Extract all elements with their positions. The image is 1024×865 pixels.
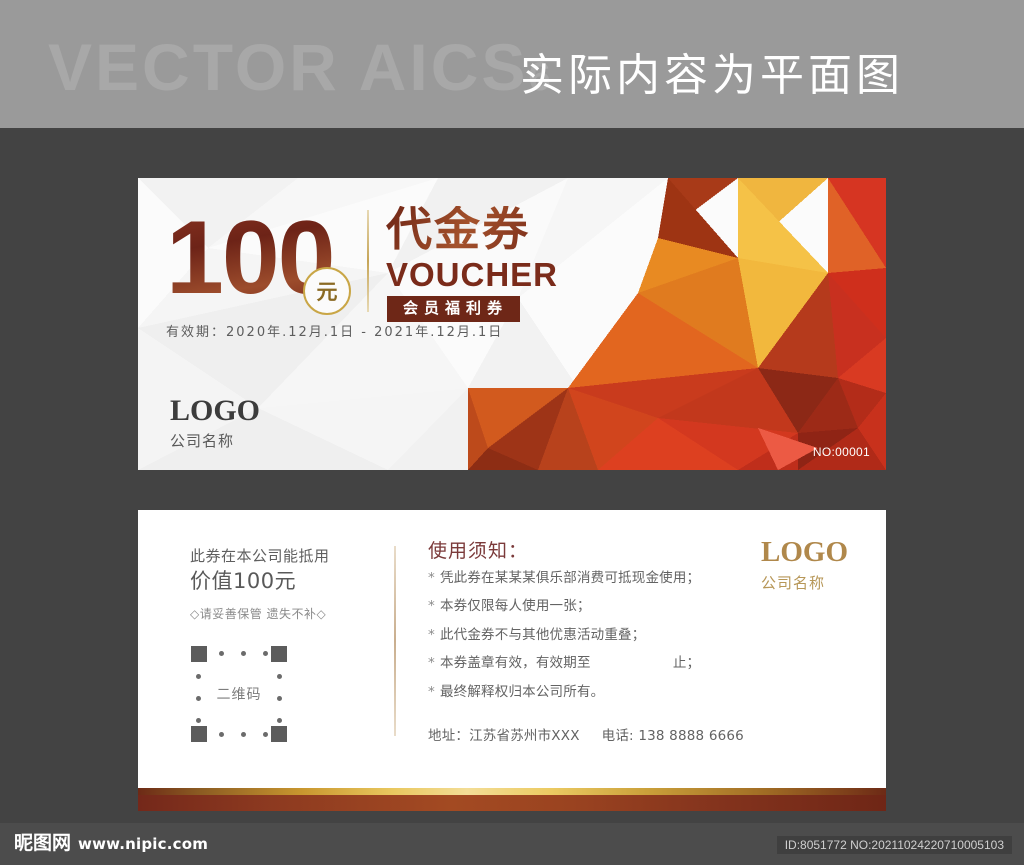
address-label: 地址：	[428, 728, 469, 744]
info-contact-line: 地址：江苏省苏州市XXX电话: 138 8888 6666	[428, 724, 744, 744]
qr-dot	[219, 732, 224, 737]
notice-item: *凭此券在某某某俱乐部消费可抵现金使用；	[428, 572, 788, 586]
watermark-vector-text: VECTOR AICS6	[48, 34, 551, 100]
info-value-line: 价值100元	[190, 568, 440, 595]
qr-dot	[263, 732, 268, 737]
qr-dot	[196, 674, 201, 679]
footer-brand: 昵图网www.nipic.com	[14, 834, 208, 853]
notice-bullet: *	[428, 655, 435, 671]
info-keepsafe-line: ◇请妥善保管 遗失不补◇	[190, 605, 440, 622]
notice-bullet: *	[428, 684, 435, 700]
info-card: 此券在本公司能抵用 价值100元 ◇请妥善保管 遗失不补◇ 二维码 使用	[138, 510, 886, 788]
info-notice-column: 使用须知： *凭此券在某某某俱乐部消费可抵现金使用； *本券仅限每人使用一张； …	[428, 540, 788, 714]
qr-dot	[263, 651, 268, 656]
notice-item-text: 本券仅限每人使用一张；	[440, 598, 591, 614]
voucher-unit-badge: 元	[303, 267, 351, 315]
info-company-name: 公司名称	[761, 572, 848, 593]
voucher-vertical-divider	[367, 210, 369, 312]
qr-corner-bottom-left	[191, 726, 207, 742]
watermark-band: VECTOR AICS6 实际内容为平面图	[0, 0, 1024, 128]
qr-dot	[277, 674, 282, 679]
footer-bar: 昵图网www.nipic.com ID:8051772 NO:202110242…	[0, 823, 1024, 865]
notice-bullet: *	[428, 598, 435, 614]
qr-corner-bottom-right	[271, 726, 287, 742]
red-accent-bar	[138, 795, 886, 811]
voucher-content: 100 元 代金券 VOUCHER 会员福利券 有效期：2020年.12月.1日…	[138, 178, 886, 470]
watermark-vector-main: VECTOR AICS	[48, 30, 528, 104]
notice-item-text: 凭此券在某某某俱乐部消费可抵现金使用；	[440, 570, 700, 586]
phone-label: 电话:	[602, 728, 634, 744]
notice-item: *最终解释权归本公司所有。	[428, 686, 788, 700]
qr-dot	[241, 651, 246, 656]
voucher-logo-text: LOGO	[170, 396, 260, 426]
qr-dot	[196, 718, 201, 723]
qr-dot	[219, 651, 224, 656]
notice-item-text: 本券盖章有效，有效期至 止；	[440, 655, 700, 671]
voucher-member-badge: 会员福利券	[387, 296, 520, 322]
notice-title: 使用须知：	[428, 540, 788, 563]
footer-id-text: ID:8051772 NO:20211024220710005103	[777, 836, 1012, 854]
qr-dot	[277, 718, 282, 723]
voucher-serial-number: NO:00001	[813, 445, 870, 459]
notice-item-text: 最终解释权归本公司所有。	[440, 684, 604, 700]
qr-corner-top-right	[271, 646, 287, 662]
info-logo-text: LOGO	[761, 538, 848, 567]
info-logo-block: LOGO 公司名称	[761, 538, 848, 593]
voucher-card: 100 元 代金券 VOUCHER 会员福利券 有效期：2020年.12月.1日…	[138, 178, 886, 470]
qr-dot	[241, 732, 246, 737]
voucher-title-en: VOUCHER	[386, 258, 558, 291]
address-value: 江苏省苏州市XXX	[469, 728, 580, 744]
notice-item: *本券盖章有效，有效期至 止；	[428, 657, 788, 671]
voucher-title-cn: 代金券	[386, 206, 530, 252]
info-left-column: 此券在本公司能抵用 价值100元 ◇请妥善保管 遗失不补◇	[190, 546, 440, 622]
footer-brand-cn: 昵图网	[14, 832, 71, 854]
notice-item-text: 此代金券不与其他优惠活动重叠；	[440, 627, 646, 643]
gold-accent-strip	[138, 788, 886, 795]
info-card-divider	[394, 546, 396, 736]
notice-bullet: *	[428, 570, 435, 586]
info-redeem-line: 此券在本公司能抵用	[190, 546, 440, 566]
footer-url: www.nipic.com	[78, 835, 208, 853]
watermark-notice-cn: 实际内容为平面图	[520, 54, 904, 98]
voucher-logo-block: LOGO 公司名称	[170, 396, 260, 451]
qr-label: 二维码	[191, 684, 287, 704]
screenshot-root: VECTOR AICS6 实际内容为平面图	[0, 0, 1024, 865]
voucher-company-name: 公司名称	[170, 430, 260, 451]
qr-corner-top-left	[191, 646, 207, 662]
notice-bullet: *	[428, 627, 435, 643]
notice-item: *本券仅限每人使用一张；	[428, 600, 788, 614]
notice-item: *此代金券不与其他优惠活动重叠；	[428, 629, 788, 643]
voucher-validity: 有效期：2020年.12月.1日 - 2021年.12月.1日	[166, 321, 503, 340]
phone-value: 138 8888 6666	[638, 728, 744, 744]
qr-code-placeholder: 二维码	[191, 646, 287, 742]
